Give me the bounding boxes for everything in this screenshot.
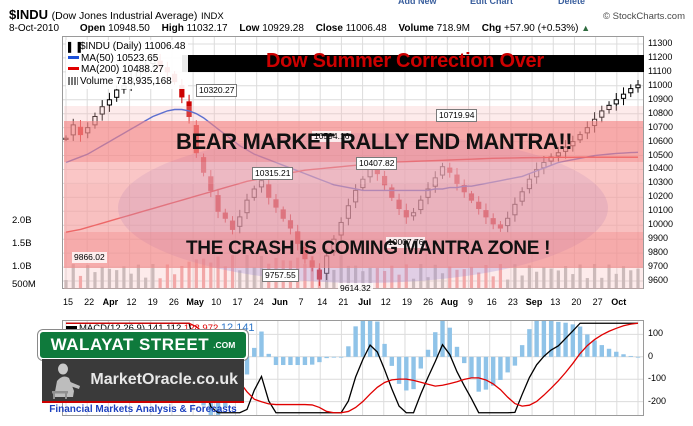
toolbar-edit-chart[interactable]: Edit Chart bbox=[470, 0, 513, 6]
price-tick-11300: 11300 bbox=[648, 38, 672, 48]
price-tick-10000: 10000 bbox=[648, 219, 673, 229]
price-tick-10100: 10100 bbox=[648, 205, 673, 215]
price-tick-10800: 10800 bbox=[648, 108, 673, 118]
support-band-mid bbox=[64, 184, 643, 232]
price-callout-10719.94: 10719.94 bbox=[436, 109, 477, 122]
date-tick-19-16: 19 bbox=[402, 297, 412, 307]
legend-ma200-label: MA(200) 10488.27 bbox=[81, 64, 164, 75]
price-callout-9866.02: 9866.02 bbox=[72, 252, 107, 263]
candlestick-icon: ▌▐ bbox=[68, 42, 78, 51]
date-tick-Sep-22: Sep bbox=[526, 297, 543, 307]
date-tick-20-24: 20 bbox=[571, 297, 581, 307]
watermark: WALAYAT STREET .COM MarketOracle.co.uk F… bbox=[32, 330, 248, 416]
date-tick-Aug-18: Aug bbox=[441, 297, 459, 307]
legend-price-label: $INDU (Daily) 11006.48 bbox=[80, 41, 185, 52]
resistance-band-mid bbox=[64, 162, 643, 184]
symbol-name: (Dow Jones Industrial Average) bbox=[52, 10, 198, 22]
high-value: 11032.17 bbox=[187, 23, 228, 34]
date-tick-12-3: 12 bbox=[127, 297, 137, 307]
price-tick-11100: 11100 bbox=[648, 66, 672, 76]
volume-tick-3: 500M bbox=[12, 279, 36, 290]
toolbar-delete[interactable]: Delete bbox=[558, 0, 585, 6]
quote-date: 8-Oct-2010 bbox=[9, 23, 59, 34]
ma200-swatch-icon bbox=[68, 67, 79, 70]
legend-ma50-label: MA(50) 10523.65 bbox=[81, 53, 158, 64]
date-tick-19-4: 19 bbox=[148, 297, 158, 307]
date-tick-13-23: 13 bbox=[550, 297, 560, 307]
date-tick-Apr-2: Apr bbox=[103, 297, 119, 307]
chg-up-arrow-icon: ▲ bbox=[581, 23, 590, 33]
price-callout-9614.32: 9614.32 bbox=[338, 283, 373, 294]
price-tick-10700: 10700 bbox=[648, 122, 673, 132]
symbol-ticker: $INDU bbox=[9, 7, 48, 22]
legend-volume-row: Volume 718,935,168 bbox=[68, 76, 185, 88]
price-tick-9700: 9700 bbox=[648, 261, 668, 271]
macd-tick--100: -100 bbox=[648, 373, 666, 383]
close-label: Close bbox=[316, 23, 343, 34]
volume-bars-icon bbox=[68, 77, 78, 85]
quote-row: 8-Oct-2010 Open 10948.50 High 11032.17 L… bbox=[9, 23, 590, 34]
legend-volume-label: Volume 718,935,168 bbox=[80, 76, 172, 87]
price-tick-10500: 10500 bbox=[648, 150, 673, 160]
macd-tick-100: 100 bbox=[648, 328, 663, 338]
low-value: 10929.28 bbox=[262, 23, 304, 34]
legend-ma200-row: MA(200) 10488.27 bbox=[68, 64, 185, 76]
volume-tick-0: 2.0B bbox=[12, 215, 32, 226]
date-tick-23-21: 23 bbox=[508, 297, 518, 307]
price-tick-9600: 9600 bbox=[648, 275, 668, 285]
legend-price-row: ▌▐$INDU (Daily) 11006.48 bbox=[68, 41, 185, 53]
price-tick-9800: 9800 bbox=[648, 247, 668, 257]
date-tick-17-8: 17 bbox=[232, 297, 242, 307]
date-tick-14-12: 14 bbox=[317, 297, 327, 307]
legend-ma50-row: MA(50) 10523.65 bbox=[68, 53, 185, 65]
annotation-dow-summer-correction-over: Dow Summer Correction Over bbox=[266, 50, 544, 73]
date-tick-16-20: 16 bbox=[487, 297, 497, 307]
price-tick-9900: 9900 bbox=[648, 233, 668, 243]
date-tick-26-5: 26 bbox=[169, 297, 179, 307]
watermark-rule bbox=[42, 401, 244, 403]
date-tick-9-19: 9 bbox=[468, 297, 473, 307]
price-callout-10407.82: 10407.82 bbox=[356, 157, 397, 170]
annotation-the-crash-is-coming-mantra-zone: THE CRASH IS COMING MANTRA ZONE ! bbox=[186, 238, 550, 260]
chg-value: +57.90 (+0.53%) bbox=[504, 23, 579, 34]
volume-tick-2: 1.0B bbox=[12, 261, 32, 272]
price-callout-9757.55: 9757.55 bbox=[262, 269, 299, 282]
price-tick-10900: 10900 bbox=[648, 94, 673, 104]
price-tick-10200: 10200 bbox=[648, 191, 673, 201]
price-tick-11000: 11000 bbox=[648, 80, 672, 90]
price-panel-legend: ▌▐$INDU (Daily) 11006.48 MA(50) 10523.65… bbox=[66, 40, 188, 89]
toolbar-add-new[interactable]: Add New bbox=[398, 0, 437, 6]
chart-symbol-header: $INDU (Dow Jones Industrial Average) IND… bbox=[9, 7, 224, 22]
stockcharts-credit: © StockCharts.com bbox=[603, 11, 685, 22]
date-tick-Oct-26: Oct bbox=[611, 297, 626, 307]
macd-tick--200: -200 bbox=[648, 396, 666, 406]
date-tick-Jul-14: Jul bbox=[358, 297, 371, 307]
symbol-exchange: INDX bbox=[201, 11, 224, 22]
stockcharts-chart-image: Add New Edit Chart Delete $INDU (Dow Jon… bbox=[0, 0, 693, 426]
open-value: 10948.50 bbox=[108, 23, 150, 34]
chg-label: Chg bbox=[482, 23, 501, 34]
close-value: 11006.48 bbox=[346, 23, 387, 34]
macd-swatch-icon bbox=[66, 326, 77, 329]
date-tick-7-11: 7 bbox=[299, 297, 304, 307]
date-tick-Jun-10: Jun bbox=[272, 297, 288, 307]
walayat-street-sign: WALAYAT STREET .COM bbox=[38, 330, 248, 360]
watermark-tagline: Financial Markets Analysis & Forecasts bbox=[42, 404, 244, 415]
volume-label: Volume bbox=[398, 23, 433, 34]
walayat-street-dotcom: .COM bbox=[213, 340, 235, 350]
price-callout-10315.21: 10315.21 bbox=[252, 167, 293, 180]
market-oracle-label: MarketOracle.co.uk bbox=[90, 371, 244, 389]
annotation-bear-market-rally-end-mantra: BEAR MARKET RALLY END MANTRA!! bbox=[176, 129, 572, 155]
price-tick-11200: 11200 bbox=[648, 52, 672, 62]
date-tick-21-13: 21 bbox=[338, 297, 348, 307]
ma50-swatch-icon bbox=[68, 56, 79, 59]
price-tick-10600: 10600 bbox=[648, 136, 673, 146]
price-callout-10320.27: 10320.27 bbox=[196, 84, 237, 97]
date-tick-22-1: 22 bbox=[84, 297, 94, 307]
macd-tick-0: 0 bbox=[648, 351, 653, 361]
low-label: Low bbox=[239, 23, 259, 34]
volume-value: 718.9M bbox=[437, 23, 470, 34]
date-tick-26-17: 26 bbox=[423, 297, 433, 307]
price-tick-10400: 10400 bbox=[648, 163, 673, 173]
date-tick-May-6: May bbox=[186, 297, 204, 307]
walayat-street-label: WALAYAT STREET bbox=[51, 335, 209, 355]
date-tick-27-25: 27 bbox=[593, 297, 603, 307]
volume-tick-1: 1.5B bbox=[12, 238, 32, 249]
date-tick-12-15: 12 bbox=[381, 297, 391, 307]
date-tick-15-0: 15 bbox=[63, 297, 73, 307]
date-tick-10-7: 10 bbox=[211, 297, 221, 307]
date-tick-24-9: 24 bbox=[254, 297, 264, 307]
open-label: Open bbox=[80, 23, 106, 34]
price-tick-10300: 10300 bbox=[648, 177, 673, 187]
high-label: High bbox=[162, 23, 184, 34]
seated-figure-icon bbox=[44, 361, 86, 399]
